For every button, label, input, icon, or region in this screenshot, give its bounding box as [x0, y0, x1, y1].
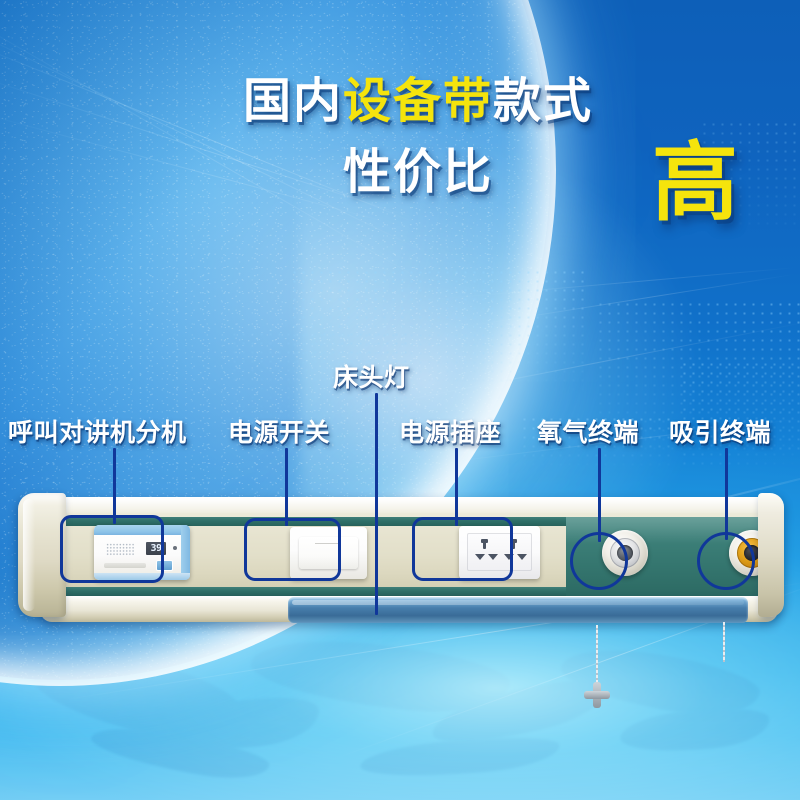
product-banner-stage: 国内设备带款式 性价比 高 呼叫对讲机分机电源开关床头灯电源插座氧气终端吸引终端… — [0, 0, 800, 800]
callout-label-oxygen-outlet: 氧气终端 — [537, 413, 639, 449]
callout-leader-suction-outlet — [725, 448, 728, 540]
callout-leader-call-intercom — [113, 448, 116, 524]
callout-layer: 呼叫对讲机分机电源开关床头灯电源插座氧气终端吸引终端 — [0, 0, 800, 800]
callout-label-power-socket: 电源插座 — [399, 413, 501, 449]
callout-label-call-intercom: 呼叫对讲机分机 — [8, 413, 187, 449]
callout-leader-power-switch — [285, 448, 288, 526]
callout-label-bed-lamp: 床头灯 — [333, 358, 410, 394]
callout-label-suction-outlet: 吸引终端 — [669, 413, 771, 449]
callout-leader-bed-lamp — [375, 393, 378, 615]
callout-label-power-switch: 电源开关 — [228, 413, 330, 449]
callout-leader-oxygen-outlet — [598, 448, 601, 542]
callout-leader-power-socket — [455, 448, 458, 526]
